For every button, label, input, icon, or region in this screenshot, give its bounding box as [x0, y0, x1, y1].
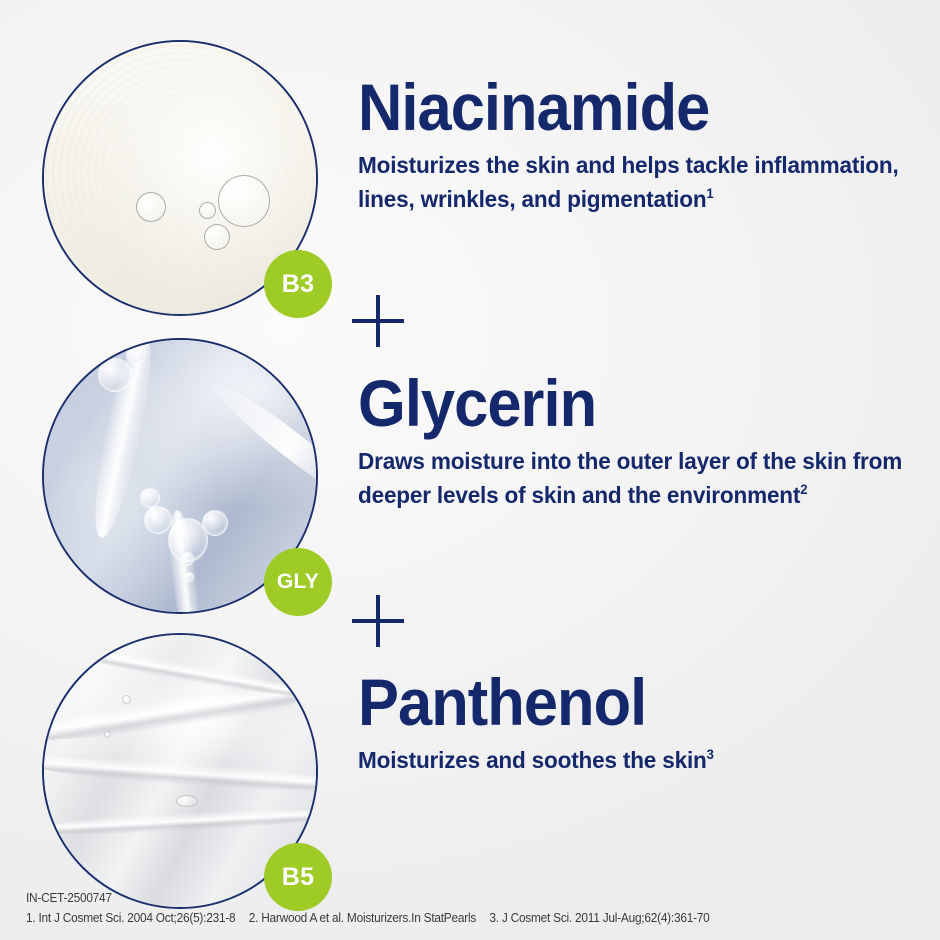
ingredient-text-glycerin: Glycerin Draws moisture into the outer l…: [358, 338, 940, 512]
badge-label: B3: [282, 270, 315, 299]
bubble-icon: [136, 192, 166, 222]
badge-gly: GLY: [264, 548, 332, 616]
bubble-icon: [176, 795, 198, 807]
bubble-icon: [202, 510, 228, 536]
reference-2: 2. Harwood A et al. Moisturizers.In Stat…: [249, 911, 476, 925]
ingredient-image-panthenol: B5: [42, 633, 318, 909]
footer-code: IN-CET-2500747: [26, 888, 723, 908]
ingredient-row-glycerin: GLY Glycerin Draws moisture into the out…: [0, 338, 940, 614]
ingredient-description: Moisturizes and soothes the skin3: [358, 744, 917, 777]
ingredient-text-panthenol: Panthenol Moisturizes and soothes the sk…: [358, 633, 940, 778]
ingredient-description: Moisturizes the skin and helps tackle in…: [358, 149, 917, 216]
ingredient-description: Draws moisture into the outer layer of t…: [358, 445, 917, 512]
badge-label: B5: [282, 863, 315, 892]
ingredient-text-niacinamide: Niacinamide Moisturizes the skin and hel…: [358, 40, 940, 216]
badge-b3: B3: [264, 250, 332, 318]
description-text: Moisturizes and soothes the skin: [358, 747, 707, 773]
ingredient-title: Glycerin: [358, 372, 899, 435]
ingredient-row-niacinamide: B3 Niacinamide Moisturizes the skin and …: [0, 40, 940, 316]
footer-references: 1. Int J Cosmet Sci. 2004 Oct;26(5):231-…: [26, 908, 723, 928]
footnote-marker: 1: [706, 186, 713, 201]
bubble-icon: [180, 552, 194, 566]
ingredient-title: Niacinamide: [358, 76, 899, 139]
description-text: Draws moisture into the outer layer of t…: [358, 448, 902, 507]
footnote-marker: 3: [707, 748, 714, 763]
description-text: Moisturizes the skin and helps tackle in…: [358, 152, 899, 211]
bubble-icon: [218, 175, 270, 227]
bubble-icon: [184, 572, 194, 582]
reference-1: 1. Int J Cosmet Sci. 2004 Oct;26(5):231-…: [26, 911, 235, 925]
ingredient-image-glycerin: GLY: [42, 338, 318, 614]
reference-3: 3. J Cosmet Sci. 2011 Jul-Aug;62(4):361-…: [489, 911, 709, 925]
bubble-icon: [122, 695, 131, 704]
ingredient-image-niacinamide: B3: [42, 40, 318, 316]
bubble-icon: [144, 506, 172, 534]
ingredient-title: Panthenol: [358, 671, 899, 734]
bubble-icon: [140, 488, 160, 508]
bubble-icon: [199, 202, 216, 219]
footnote-marker: 2: [800, 482, 807, 497]
bubble-icon: [204, 224, 230, 250]
badge-b5: B5: [264, 843, 332, 911]
ingredient-row-panthenol: B5 Panthenol Moisturizes and soothes the…: [0, 633, 940, 909]
badge-label: GLY: [277, 570, 319, 594]
footer: IN-CET-2500747 1. Int J Cosmet Sci. 2004…: [26, 888, 723, 929]
bubble-icon: [104, 731, 111, 738]
bubble-icon: [126, 344, 146, 364]
bubble-icon: [98, 358, 132, 392]
